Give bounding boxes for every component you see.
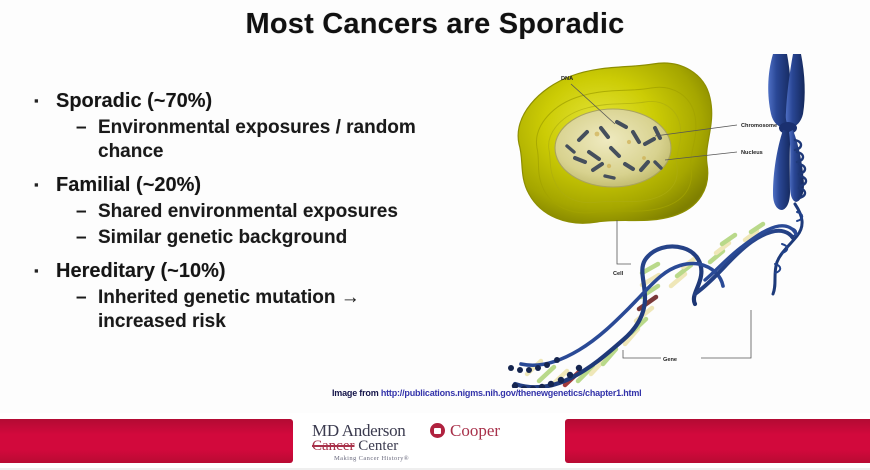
- dash-marker-icon: –: [76, 200, 98, 224]
- bullet-item-familial: ▪ Familial (~20%): [34, 172, 504, 198]
- md-anderson-cooper-logo: MD Anderson Cooper Cancer Center Making …: [300, 419, 558, 467]
- logo-brand-center: Cancer Center: [312, 438, 398, 455]
- bullet-label: Familial (~20%): [56, 172, 201, 198]
- cooper-c-mark-icon: [430, 423, 445, 438]
- sub-bullet-item-inherited-mutation: – Inherited genetic mutation → increased…: [76, 286, 504, 334]
- bullet-item-sporadic: ▪ Sporadic (~70%): [34, 88, 504, 114]
- bullet-list: ▪ Sporadic (~70%) – Environmental exposu…: [34, 88, 504, 336]
- figure-label-nucleus: Nucleus: [741, 150, 763, 156]
- gene-bracket-right: [701, 310, 751, 358]
- chromosome-illustration: [768, 54, 806, 294]
- image-attribution: Image from http://publications.nigms.nih…: [332, 388, 641, 398]
- bullet-marker-icon: ▪: [34, 258, 56, 284]
- figure-label-chromosome: Chromosome: [741, 123, 777, 129]
- dash-marker-icon: –: [76, 226, 98, 250]
- bullet-item-hereditary: ▪ Hereditary (~10%): [34, 258, 504, 284]
- logo-tagline: Making Cancer History®: [334, 455, 409, 462]
- logo-brand-partner: Cooper: [450, 421, 500, 441]
- figure-label-gene: Gene: [663, 357, 677, 363]
- dash-marker-icon: –: [76, 116, 98, 140]
- attribution-url[interactable]: http://publications.nigms.nih.gov/thenew…: [381, 388, 642, 398]
- chromatin-unravel-coils: [775, 212, 802, 273]
- sub-bullet-label: Inherited genetic mutation → increased r…: [98, 286, 428, 334]
- footer-bar-left: [0, 419, 293, 463]
- gene-bracket-left: [623, 350, 661, 358]
- dna-backbone-back: [521, 264, 723, 366]
- sub-bullet-item-environmental: – Environmental exposures / random chanc…: [76, 116, 504, 164]
- sub-bullet-label: Similar genetic background: [98, 226, 347, 250]
- dash-marker-icon: –: [76, 286, 98, 310]
- attribution-prefix: Image from: [332, 388, 381, 398]
- bullet-marker-icon: ▪: [34, 172, 56, 198]
- slide-footer: MD Anderson Cooper Cancer Center Making …: [0, 413, 870, 470]
- logo-center-word: Center: [354, 438, 398, 454]
- bullet-label: Hereditary (~10%): [56, 258, 226, 284]
- leader-cell: [617, 220, 631, 264]
- sub-bullet-item-shared-exposures: – Shared environmental exposures: [76, 200, 504, 224]
- bullet-marker-icon: ▪: [34, 88, 56, 114]
- bullet-label: Sporadic (~70%): [56, 88, 212, 114]
- cell-illustration: [518, 63, 712, 223]
- sub-bullet-label: Environmental exposures / random chance: [98, 116, 428, 164]
- figure-label-dna: DNA: [561, 76, 573, 82]
- chromatid-arm-lower-left: [773, 130, 791, 210]
- genetics-diagram-image: Chromosome Nucleus Cell: [505, 48, 870, 388]
- sub-bullet-item-genetic-background: – Similar genetic background: [76, 226, 504, 250]
- page-title: Most Cancers are Sporadic: [0, 8, 870, 41]
- footer-bar-right: [565, 419, 870, 463]
- genetics-diagram-svg: Chromosome Nucleus Cell: [505, 48, 870, 388]
- figure-label-cell: Cell: [613, 271, 624, 277]
- slide-canvas: Most Cancers are Sporadic ▪ Sporadic (~7…: [0, 0, 870, 470]
- sub-bullet-label: Shared environmental exposures: [98, 200, 398, 224]
- logo-struck-word: Cancer: [312, 438, 354, 454]
- dna-helix-illustration: [508, 224, 796, 388]
